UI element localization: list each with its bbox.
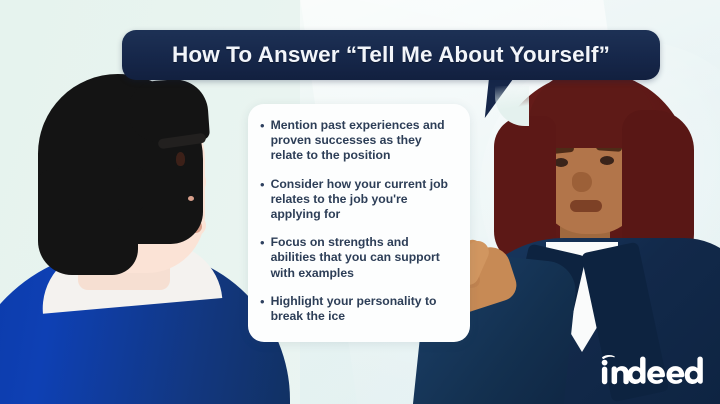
tip-text: Focus on strengths and abilities that yo… (271, 235, 456, 281)
indeed-logo (598, 354, 706, 388)
list-item: • Mention past experiences and proven su… (260, 118, 456, 164)
list-item: • Consider how your current job relates … (260, 177, 456, 223)
tip-text: Highlight your personality to break the … (271, 294, 456, 324)
list-item: • Highlight your personality to break th… (260, 294, 456, 324)
woman-eye-right (600, 156, 614, 165)
woman-eye-left (554, 158, 568, 167)
indeed-wordmark-icon (598, 354, 706, 388)
woman-nose (572, 172, 592, 192)
page-title: How To Answer “Tell Me About Yourself” (172, 42, 610, 68)
bullet-icon: • (260, 177, 265, 192)
tip-text: Consider how your current job relates to… (271, 177, 456, 223)
bullet-icon: • (260, 294, 265, 309)
man-sideburn (118, 166, 144, 212)
page-title-banner: How To Answer “Tell Me About Yourself” (122, 30, 660, 80)
man-eye (176, 152, 185, 166)
tips-card: • Mention past experiences and proven su… (248, 104, 470, 342)
bullet-icon: • (260, 118, 265, 133)
list-item: • Focus on strengths and abilities that … (260, 235, 456, 281)
bullet-icon: • (260, 235, 265, 250)
infographic-canvas: How To Answer “Tell Me About Yourself” •… (0, 0, 720, 404)
tip-text: Mention past experiences and proven succ… (271, 118, 456, 164)
woman-mouth (570, 200, 602, 212)
man-nostril (188, 196, 194, 201)
